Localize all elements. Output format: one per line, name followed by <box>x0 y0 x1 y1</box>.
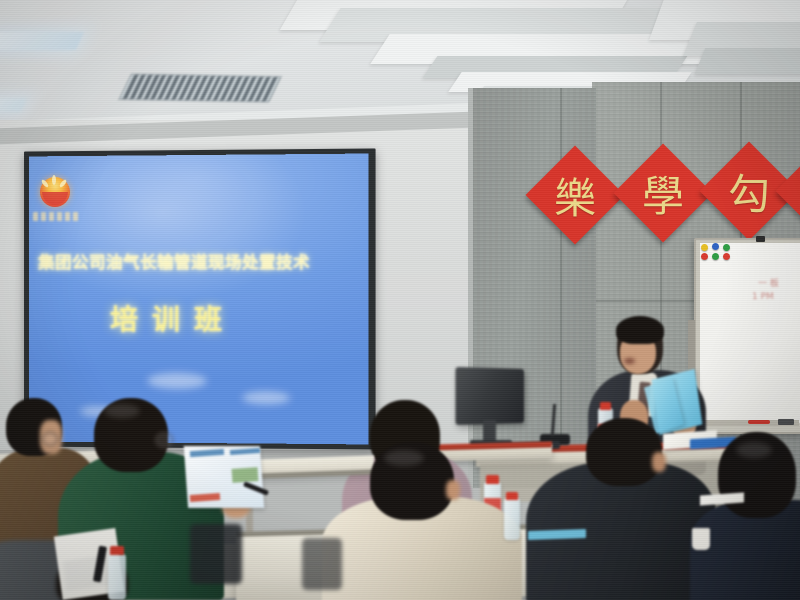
wall-pillar-edge <box>468 88 473 488</box>
banner-diamond-1: 樂 <box>526 146 625 245</box>
globe-cloud-1 <box>147 373 207 389</box>
attendee-green-hair-sheen <box>104 404 140 418</box>
magnet-green-2[interactable] <box>712 253 719 260</box>
banner-char-3: 勾 <box>714 156 784 226</box>
whiteboard-clip[interactable] <box>756 236 765 242</box>
photograph-scene: 集团公司油气长输管道现场处置技术 培训班 樂 學 勾 人 一 板 1 PM <box>0 0 800 600</box>
whiteboard-marker[interactable] <box>748 420 770 424</box>
banner-char-1: 樂 <box>540 160 610 230</box>
coffee-cup[interactable] <box>692 528 710 550</box>
petrochina-logo-icon <box>38 176 72 210</box>
banner-char-2: 學 <box>628 158 698 228</box>
banner-3: 勾 <box>714 156 784 226</box>
presenter-bottle-cap <box>600 402 611 410</box>
presenter-hair <box>616 316 664 344</box>
banner-2: 學 <box>628 158 698 228</box>
banner-char-4: 人 <box>790 156 800 226</box>
logo-ray-1 <box>52 175 56 185</box>
ceiling-step-right-c <box>695 48 800 74</box>
whiteboard-eraser[interactable] <box>778 419 794 425</box>
air-vent-grille <box>118 74 281 103</box>
monitor <box>455 367 524 425</box>
left-water-bottle[interactable] <box>108 554 126 600</box>
banner-diamond-2: 學 <box>614 144 713 243</box>
magnet-green[interactable] <box>723 244 730 251</box>
magnet-red-1[interactable] <box>701 253 708 260</box>
center-water-bottle[interactable] <box>504 498 520 540</box>
attendee-brown-glasses <box>42 432 58 446</box>
recessed-light-panel-1 <box>0 32 84 50</box>
attendee-cream-hair-sheen <box>384 450 424 466</box>
pillar-seam <box>560 88 562 488</box>
attendee-suit1-head <box>586 418 662 486</box>
attendee-suit2-hair-sheen <box>736 442 772 458</box>
chair-center[interactable] <box>302 538 342 590</box>
attendee-green-glasses <box>155 432 173 448</box>
attendee-suit1-ear <box>652 452 666 472</box>
attendee-cream-ear <box>446 480 460 500</box>
slide-subtitle: 培训班 <box>110 298 236 338</box>
globe-cloud-2 <box>242 391 290 404</box>
magnet-blue[interactable] <box>712 243 719 250</box>
banner-1: 樂 <box>540 160 610 230</box>
brochure-photo <box>232 467 259 483</box>
whiteboard-surface[interactable] <box>700 243 800 423</box>
banner-4: 人 <box>790 156 800 226</box>
presenter-mouth <box>624 358 635 364</box>
logo-wordmark <box>33 212 79 221</box>
whiteboard-note-line-1: 一 板 <box>758 276 779 289</box>
mid-bottle-cap <box>486 475 499 484</box>
magnet-yellow[interactable] <box>701 244 708 251</box>
center-bottle-cap <box>506 492 518 500</box>
whiteboard-note-line-2: 1 PM <box>752 292 774 302</box>
chair-left[interactable] <box>190 524 242 584</box>
slide-title: 集团公司油气长输管道现场处置技术 <box>38 249 358 273</box>
left-bottle-cap <box>110 546 124 555</box>
magnet-red-2[interactable] <box>723 253 730 260</box>
